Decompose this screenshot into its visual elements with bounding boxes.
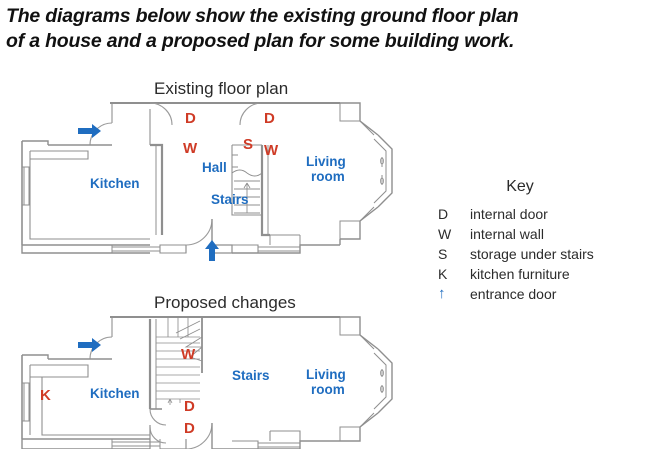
key-row-storage-under-stairs: S storage under stairs [430,246,660,262]
key-description-internal-wall: internal wall [470,226,660,242]
existing-storage-marker: S [243,138,253,151]
key-panel: Key D internal door W internal wall S st… [430,178,660,306]
proposed-plan-arrows [78,338,101,352]
proposed-stairs-label: Stairs [232,369,270,382]
existing-kitchen-label: Kitchen [90,177,140,190]
proposed-door-upper-marker: D [184,400,195,413]
proposed-door-lower-marker: D [184,422,195,435]
existing-hall-label: Hall [202,161,227,174]
key-symbol-d: D [430,206,470,222]
key-symbol-s: S [430,246,470,262]
key-description-internal-door: internal door [470,206,660,222]
key-row-internal-wall: W internal wall [430,226,660,242]
existing-wall-left-marker: W [183,142,197,155]
prompt-line-2: of a house and a proposed plan for some … [6,29,656,54]
existing-living-room-label-line1: Living [306,155,346,168]
key-row-entrance-door: ↑ entrance door [430,286,660,302]
key-description-kitchen-furniture: kitchen furniture [470,266,660,282]
existing-stairs-label: Stairs [211,193,249,206]
key-title: Key [430,178,610,196]
proposed-wall-marker: W [181,348,195,361]
proposed-living-room-label-line1: Living [306,368,346,381]
front-entrance-arrow-icon [205,240,219,261]
proposed-floor-plan-drawing [0,309,430,449]
existing-living-room-label-line2: room [311,170,345,183]
key-description-entrance-door: entrance door [470,286,660,302]
key-description-storage-under-stairs: storage under stairs [470,246,660,262]
kitchen-entrance-arrow-icon [78,338,101,352]
proposed-living-room-label-line2: room [311,383,345,396]
prompt-line-1: The diagrams below show the existing gro… [6,4,656,29]
key-row-kitchen-furniture: K kitchen furniture [430,266,660,282]
key-row-internal-door: D internal door [430,206,660,222]
existing-floor-plan-drawing [0,95,430,265]
screenshot-root: The diagrams below show the existing gro… [0,0,663,449]
key-symbol-k: K [430,266,470,282]
prompt-text: The diagrams below show the existing gro… [6,4,656,54]
proposed-kitchen-label: Kitchen [90,387,140,400]
kitchen-entrance-arrow-icon [78,124,101,138]
existing-wall-right-marker: W [264,144,278,157]
existing-door-right-marker: D [264,112,275,125]
existing-door-left-marker: D [185,112,196,125]
proposed-kitchen-furniture-marker: K [40,389,51,402]
up-arrow-icon: ↑ [430,286,470,302]
key-symbol-w: W [430,226,470,242]
